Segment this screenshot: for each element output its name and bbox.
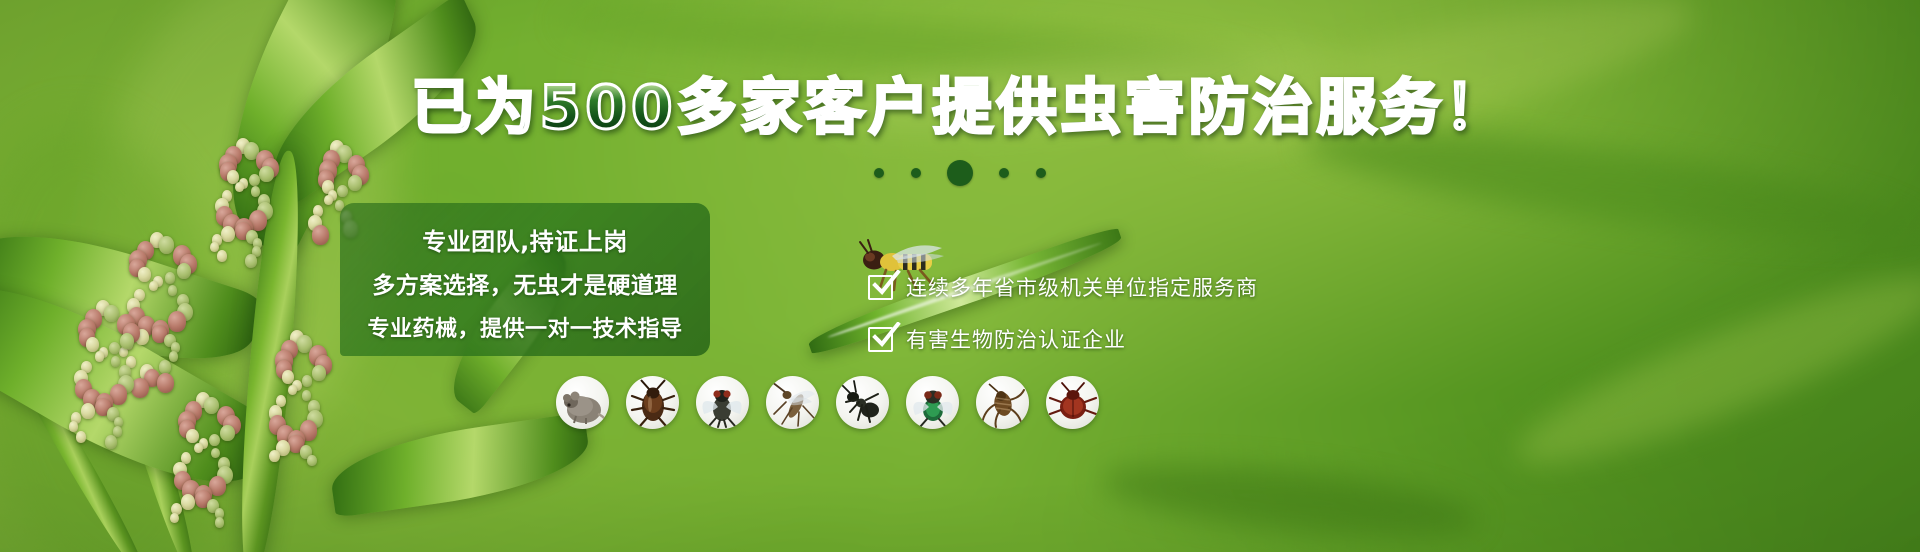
dot-small [1036,168,1046,178]
checkbox-checked-icon [868,275,893,300]
dot-small [911,168,921,178]
checkbox-checked-icon [868,327,893,352]
list-item: 连续多年省市级机关单位指定服务商 [868,272,1258,302]
panel-line-1: 专业团队,持证上岗 [340,222,710,257]
flea-icon [976,376,1029,429]
headline-text: 已为500多家客户提供虫害防治服务！ [411,73,1508,143]
selling-points-panel: 专业团队,持证上岗 多方案选择，无虫才是硬道理 专业药械，提供一对一技术指导 [340,203,710,356]
mouse-icon [556,376,609,429]
dot-small [874,168,884,178]
dot-small [999,168,1009,178]
credentials-list: 连续多年省市级机关单位指定服务商 有害生物防治认证企业 [868,272,1258,376]
pest-type-icons [556,376,1099,429]
list-item: 有害生物防治认证企业 [868,324,1258,354]
fly-icon [696,376,749,429]
page-title: 已为500多家客户提供虫害防治服务！ [0,78,1920,138]
decorative-dots [0,160,1920,186]
cockroach-icon [626,376,679,429]
panel-line-3: 专业药械，提供一对一技术指导 [340,311,710,343]
dot-large [947,160,973,186]
credential-text: 连续多年省市级机关单位指定服务商 [906,272,1258,302]
pest-control-banner: 已为500多家客户提供虫害防治服务！ 专业团队,持证上岗 多方案选择，无虫才是硬… [0,0,1920,552]
blowfly-icon [906,376,959,429]
bedbug-icon [1046,376,1099,429]
ant-icon [836,376,889,429]
credential-text: 有害生物防治认证企业 [906,324,1126,354]
mosquito-icon [766,376,819,429]
panel-line-2: 多方案选择，无虫才是硬道理 [340,266,710,300]
